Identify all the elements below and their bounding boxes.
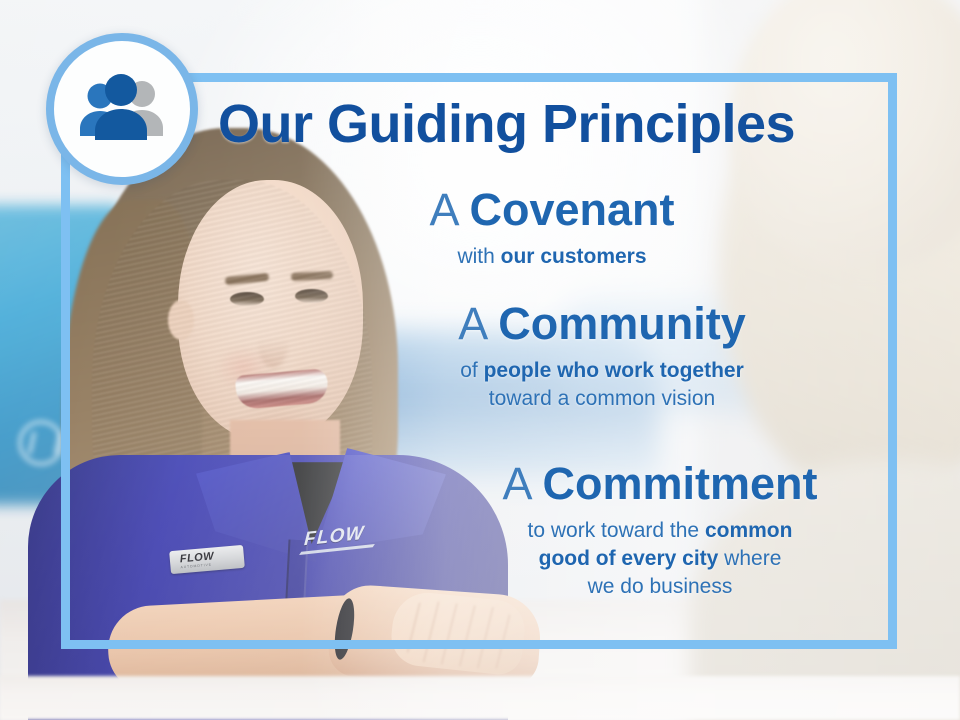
community-sub-line1-plain: of bbox=[460, 359, 483, 382]
principle-commitment-subtext: to work toward the common good of every … bbox=[330, 517, 960, 601]
community-sub-line2: toward a common vision bbox=[272, 385, 932, 413]
principle-commitment-title: A Commitment bbox=[330, 460, 960, 508]
principle-community-title: A Community bbox=[272, 300, 932, 348]
principle-covenant-subtext: with our customers bbox=[222, 243, 882, 271]
principle-community-subtext: of people who work together toward a com… bbox=[272, 357, 932, 413]
commitment-sub-line3: we do business bbox=[330, 573, 960, 601]
people-group-icon bbox=[74, 74, 170, 144]
commitment-sub-line1-bold: common bbox=[705, 519, 793, 542]
principle-commitment-article: A bbox=[502, 458, 542, 509]
principle-covenant-article: A bbox=[429, 184, 469, 235]
commitment-sub-line1-plain: to work toward the bbox=[528, 519, 705, 542]
principle-commitment-word: Commitment bbox=[543, 458, 818, 509]
community-sub-line1-bold: people who work together bbox=[484, 359, 744, 382]
principle-community-word: Community bbox=[498, 298, 746, 349]
principle-covenant-word: Covenant bbox=[470, 184, 675, 235]
commitment-sub-line1: to work toward the common bbox=[330, 517, 960, 545]
community-sub-line1: of people who work together bbox=[272, 357, 932, 385]
commitment-sub-line2: good of every city where bbox=[330, 545, 960, 573]
page-title: Our Guiding Principles bbox=[218, 97, 868, 151]
commitment-sub-line2-bold: good of every city bbox=[539, 547, 719, 570]
desk-edge bbox=[0, 676, 960, 720]
covenant-sub-line1-bold: our customers bbox=[501, 245, 647, 268]
principle-covenant: A Covenant with our customers bbox=[222, 186, 882, 271]
principle-covenant-title: A Covenant bbox=[222, 186, 882, 234]
principle-community-article: A bbox=[458, 298, 498, 349]
principle-commitment: A Commitment to work toward the common g… bbox=[330, 460, 960, 600]
principle-community: A Community of people who work together … bbox=[272, 300, 932, 413]
covenant-sub-line1-plain: with bbox=[457, 245, 500, 268]
people-group-badge bbox=[46, 33, 198, 185]
guiding-principles-graphic: FLOW AUTOMOTIVE FLOW bbox=[0, 0, 960, 720]
commitment-sub-line2-plain: where bbox=[718, 547, 781, 570]
